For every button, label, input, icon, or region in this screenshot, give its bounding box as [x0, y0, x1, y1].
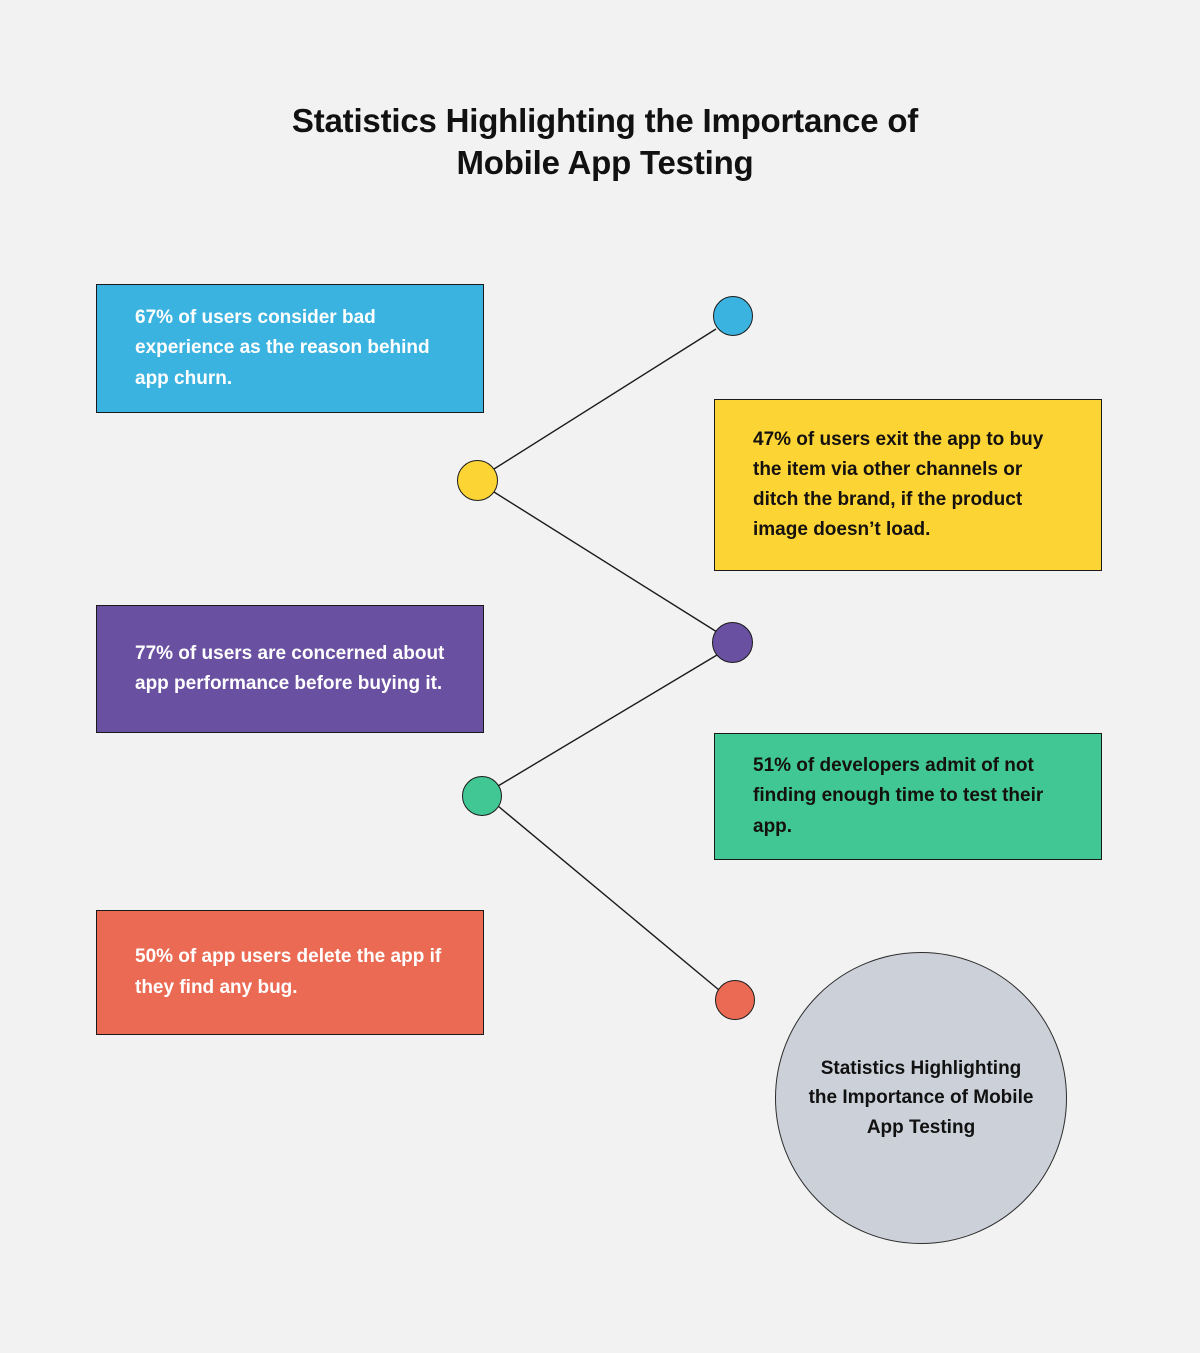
connector-segment-0 [494, 329, 716, 469]
node-exit-app[interactable] [457, 460, 498, 501]
node-performance[interactable] [712, 622, 753, 663]
stat-card-performance[interactable]: 77% of users are concerned about app per… [96, 605, 484, 733]
stat-card-developer-time[interactable]: 51% of developers admit of not finding e… [714, 733, 1102, 860]
infographic-canvas: Statistics Highlighting the Importance o… [0, 0, 1200, 1353]
stat-card-text: 77% of users are concerned about app per… [97, 639, 483, 699]
stat-card-exit-app[interactable]: 47% of users exit the app to buy the ite… [714, 399, 1102, 571]
connector-segment-3 [498, 806, 719, 990]
stat-card-churn[interactable]: 67% of users consider bad experience as … [96, 284, 484, 413]
stat-card-text: 47% of users exit the app to buy the ite… [715, 425, 1101, 545]
node-delete-app[interactable] [715, 980, 755, 1020]
node-churn[interactable] [713, 296, 753, 336]
stat-card-delete-app[interactable]: 50% of app users delete the app if they … [96, 910, 484, 1035]
node-developer-time[interactable] [462, 776, 502, 816]
stat-card-text: 51% of developers admit of not finding e… [715, 751, 1101, 841]
connector-segment-2 [498, 655, 717, 786]
connector-segment-1 [494, 492, 717, 632]
stat-card-text: 50% of app users delete the app if they … [97, 942, 483, 1002]
stat-card-text: 67% of users consider bad experience as … [97, 303, 483, 393]
hub-circle[interactable]: Statistics Highlighting the Importance o… [775, 952, 1067, 1244]
hub-label: Statistics Highlighting the Importance o… [806, 1054, 1036, 1142]
